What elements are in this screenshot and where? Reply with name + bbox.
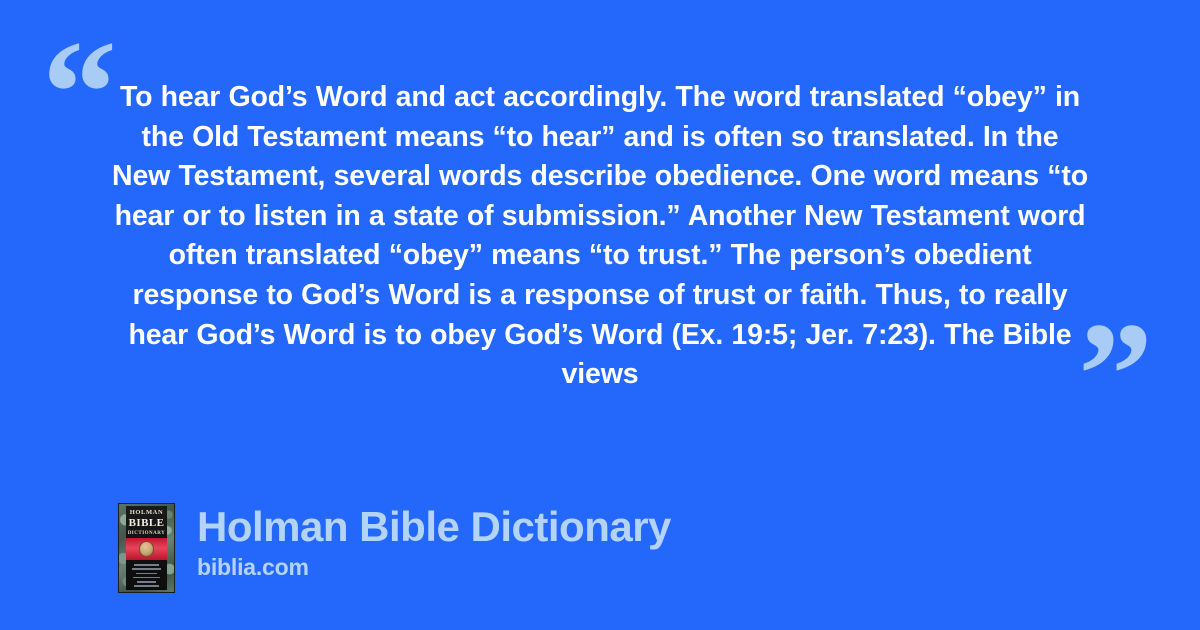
quote-body: To hear God’s Word and act accordingly. … — [110, 78, 1090, 395]
book-cover-title-bible: BIBLE — [119, 518, 174, 529]
quote-card: “ ” To hear God’s Word and act according… — [0, 0, 1200, 630]
open-quote-icon: “ — [42, 18, 117, 168]
branding-footer: HOLMAN BIBLE DICTIONARY Holman Bible Dic… — [118, 503, 671, 593]
book-cover-text-lines — [131, 564, 162, 587]
book-cover-title-holman: HOLMAN — [119, 510, 174, 517]
source-title: Holman Bible Dictionary — [197, 503, 671, 551]
book-cover-medallion-icon — [139, 541, 154, 557]
quote-text: To hear God’s Word and act accordingly. … — [110, 78, 1090, 395]
book-cover-thumbnail: HOLMAN BIBLE DICTIONARY — [118, 503, 175, 593]
source-website: biblia.com — [197, 553, 671, 581]
brand-text-group: Holman Bible Dictionary biblia.com — [197, 503, 671, 581]
book-cover-title-dictionary: DICTIONARY — [119, 531, 174, 536]
